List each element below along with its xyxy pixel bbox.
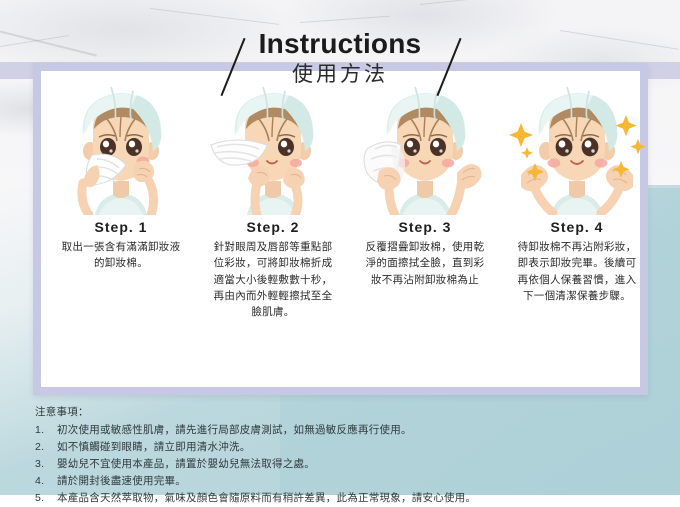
illustration-step-4 <box>505 77 649 215</box>
note-text: 嬰幼兒不宜使用本產品，請置於嬰幼兒無法取得之處。 <box>57 456 645 473</box>
note-text: 初次使用或敏感性肌膚，請先進行局部皮膚測試，如無過敏反應再行使用。 <box>57 422 645 439</box>
step-column-3: Step. 3 反覆摺疊卸妝棉，使用乾淨的面擦拭全臉，直到彩妝不再沾附卸妝棉為止 <box>349 77 501 288</box>
step-body-4: 待卸妝棉不再沾附彩妝，即表示卸妝完畢。後續可再依個人保養習慣，進入下一個清潔保養… <box>515 239 640 304</box>
note-number: 5. <box>35 490 57 507</box>
note-item: 3. 嬰幼兒不宜使用本產品，請置於嬰幼兒無法取得之處。 <box>35 456 645 473</box>
note-number: 4. <box>35 473 57 490</box>
notes-title: 注意事項： <box>35 404 645 421</box>
note-number: 3. <box>35 456 57 473</box>
step-column-4: Step. 4 待卸妝棉不再沾附彩妝，即表示卸妝完畢。後續可再依個人保養習慣，進… <box>501 77 653 304</box>
page-title-chinese: 使用方法 <box>0 64 680 85</box>
instructions-card: Step. 1 取出一張含有滿滿卸妝液的卸妝棉。 <box>33 63 648 395</box>
note-number: 2. <box>35 439 57 456</box>
step-body-1: 取出一張含有滿滿卸妝液的卸妝棉。 <box>59 239 184 272</box>
step-body-3: 反覆摺疊卸妝棉，使用乾淨的面擦拭全臉，直到彩妝不再沾附卸妝棉為止 <box>363 239 488 288</box>
note-text: 請於開封後盡速使用完畢。 <box>57 473 645 490</box>
illustration-step-3 <box>353 77 497 215</box>
note-item: 1. 初次使用或敏感性肌膚，請先進行局部皮膚測試，如無過敏反應再行使用。 <box>35 422 645 439</box>
step-column-1: Step. 1 取出一張含有滿滿卸妝液的卸妝棉。 <box>45 77 197 272</box>
step-title-4: Step. 4 <box>551 219 604 235</box>
notes-section: 注意事項： 1. 初次使用或敏感性肌膚，請先進行局部皮膚測試，如無過敏反應再行使… <box>35 404 645 507</box>
step-title-3: Step. 3 <box>399 219 452 235</box>
illustration-step-2 <box>201 77 345 215</box>
note-text: 如不慎觸碰到眼睛，請立即用清水沖洗。 <box>57 439 645 456</box>
page-title-english: Instructions <box>0 30 680 58</box>
step-title-1: Step. 1 <box>95 219 148 235</box>
step-column-2: Step. 2 針對眼周及唇部等重點部位彩妝，可將卸妝棉折成適當大小後輕敷數十秒… <box>197 77 349 320</box>
step-title-2: Step. 2 <box>247 219 300 235</box>
note-number: 1. <box>35 422 57 439</box>
illustration-step-1 <box>49 77 193 215</box>
note-item: 2. 如不慎觸碰到眼睛，請立即用清水沖洗。 <box>35 439 645 456</box>
note-text: 本產品含天然萃取物，氣味及顏色會隨原料而有稍許差異，此為正常現象，請安心使用。 <box>57 490 645 507</box>
note-item: 4. 請於開封後盡速使用完畢。 <box>35 473 645 490</box>
note-item: 5. 本產品含天然萃取物，氣味及顏色會隨原料而有稍許差異，此為正常現象，請安心使… <box>35 490 645 507</box>
step-body-2: 針對眼周及唇部等重點部位彩妝，可將卸妝棉折成適當大小後輕敷數十秒，再由內而外輕輕… <box>211 239 336 320</box>
instructions-card-inner: Step. 1 取出一張含有滿滿卸妝液的卸妝棉。 <box>41 71 640 387</box>
page-title-block: Instructions 使用方法 <box>0 30 680 85</box>
